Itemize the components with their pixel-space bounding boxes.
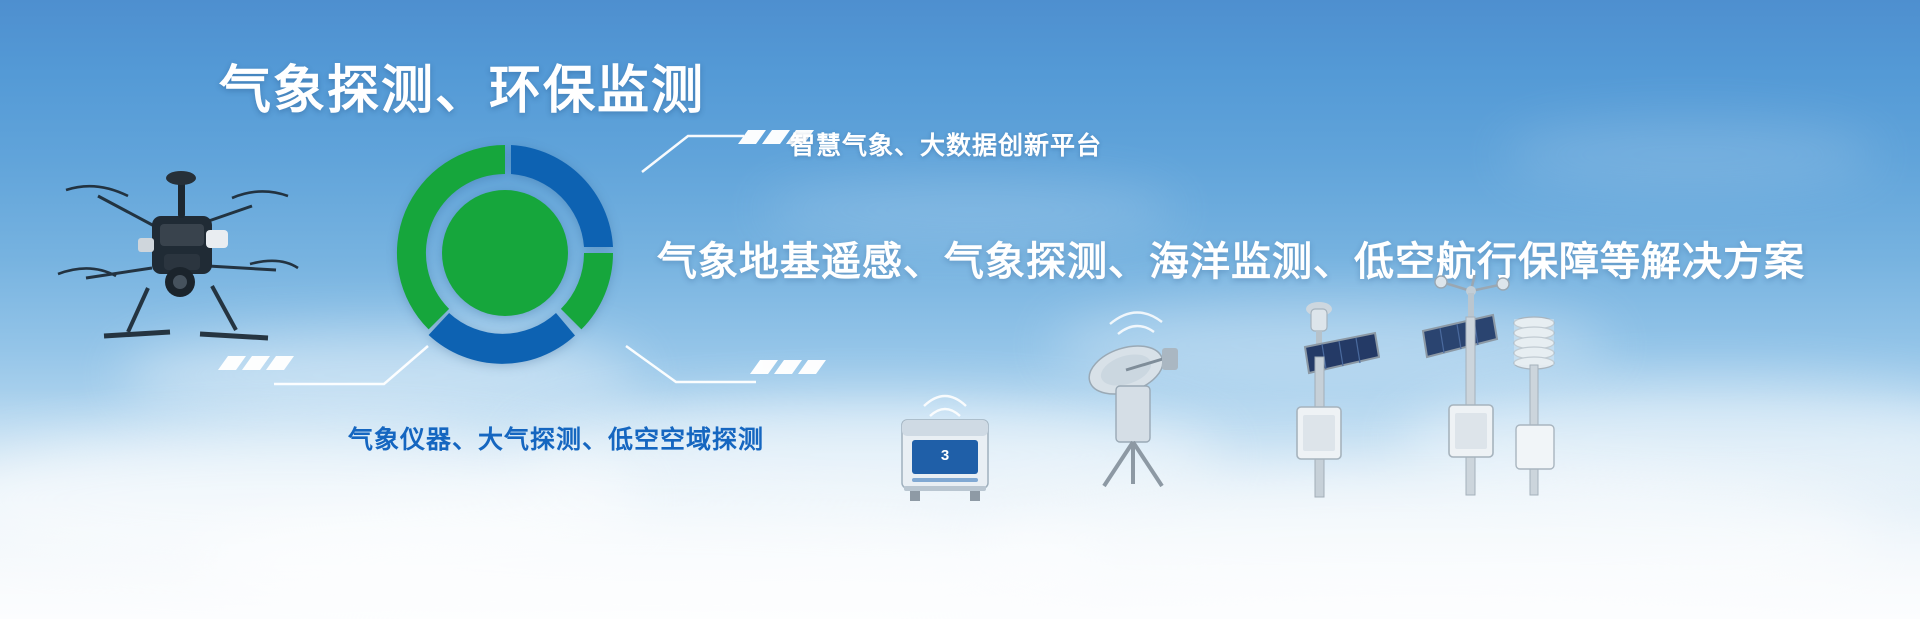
page-title: 气象探测、环保监测 xyxy=(219,48,705,123)
laser-radar-box-icon: 3 xyxy=(890,390,1000,505)
connector-line-top-right xyxy=(636,130,816,180)
cloud-wisp xyxy=(1500,120,1880,190)
label-solutions: 气象地基遥感、气象探测、海洋监测、低空航行保障等解决方案 xyxy=(657,229,1805,287)
svg-text:3: 3 xyxy=(941,447,949,464)
solar-monitoring-station-icon xyxy=(1275,295,1380,500)
connector-line-bottom-right xyxy=(620,336,840,396)
label-smart-meteorology: 智慧气象、大数据创新平台 xyxy=(790,126,1102,162)
dish-antenna-icon xyxy=(1070,300,1200,490)
radiation-shield-sensor-icon xyxy=(1460,275,1570,505)
cloud-wisp xyxy=(200,500,1100,619)
ring-logo xyxy=(380,128,630,378)
drone-icon xyxy=(40,150,300,350)
weather-monitoring-banner: 气象探测、环保监测 xyxy=(0,0,1920,619)
label-instruments: 气象仪器、大气探测、低空空域探测 xyxy=(348,420,764,456)
